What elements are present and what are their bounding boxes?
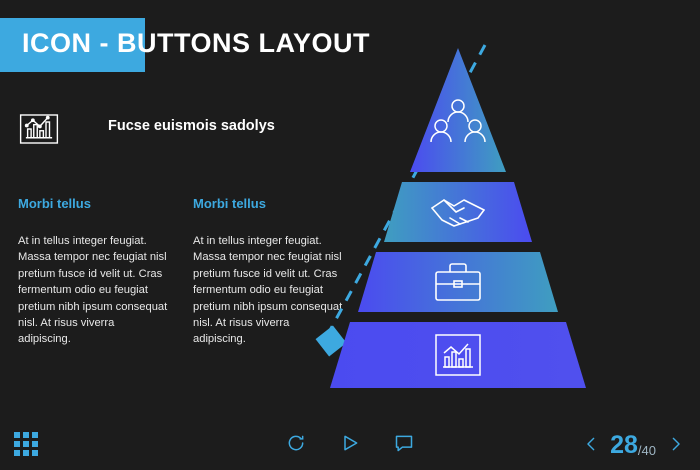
bar-chart-icon xyxy=(18,108,60,150)
pyramid-level-1[interactable] xyxy=(410,48,506,172)
pyramid-level-2[interactable] xyxy=(384,182,532,242)
play-icon[interactable] xyxy=(339,432,361,454)
chevron-left-icon[interactable] xyxy=(582,430,600,458)
page-number: 28 /40 xyxy=(610,433,656,458)
pyramid-diagram xyxy=(310,40,600,395)
chevron-right-icon[interactable] xyxy=(666,430,684,458)
comment-icon[interactable] xyxy=(393,432,415,454)
section-subtitle: Fucse euismois sadolys xyxy=(108,118,275,134)
column-body: At in tellus integer feugiat. Massa temp… xyxy=(18,233,168,348)
refresh-icon[interactable] xyxy=(285,432,307,454)
slide-canvas: ICON - BUTTONS LAYOUT Fucse euismois sad… xyxy=(0,0,700,470)
column-heading: Morbi tellus xyxy=(18,196,168,211)
page-total: /40 xyxy=(638,444,656,457)
page-current: 28 xyxy=(610,433,638,458)
pyramid-level-3[interactable] xyxy=(358,252,558,312)
pagination: 28 /40 xyxy=(582,430,684,458)
text-column-1: Morbi tellus At in tellus integer feugia… xyxy=(18,196,168,348)
pyramid-level-4[interactable] xyxy=(330,322,586,388)
